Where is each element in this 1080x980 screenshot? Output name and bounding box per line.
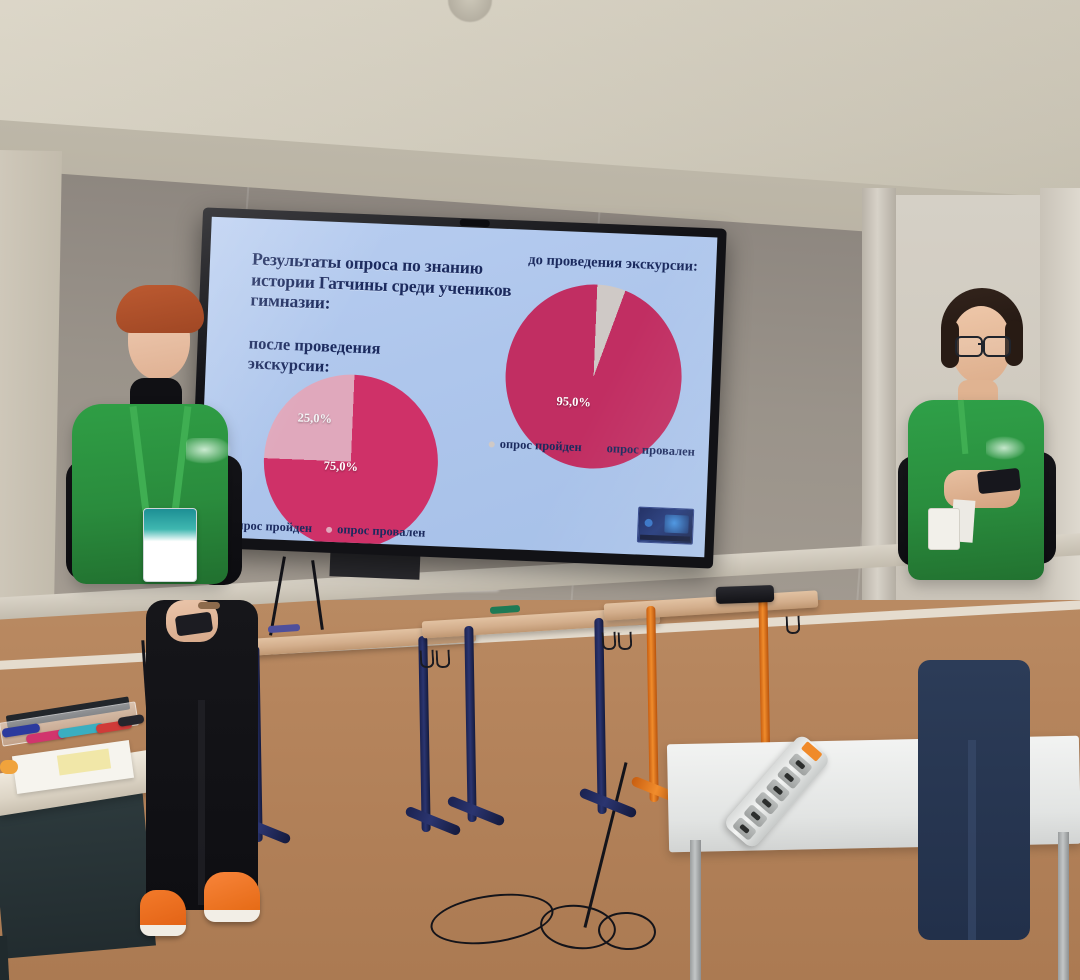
legend-label-passed: опрос пройден (499, 437, 582, 455)
legend-item-passed: опрос пройден (488, 436, 582, 455)
tshirt-logo-icon (186, 438, 232, 464)
tv-screen: Результаты опроса по знанию истории Гатч… (199, 217, 718, 557)
presentation-slide: Результаты опроса по знанию истории Гатч… (199, 217, 718, 557)
table-leg (1058, 832, 1069, 980)
pie-label-passed-before: 95,0% (556, 394, 591, 410)
desk-hook (786, 616, 801, 635)
name-badge (143, 508, 197, 582)
bracelet (198, 602, 220, 609)
desk-hook (602, 632, 617, 651)
wall-tv: Результаты опроса по знанию истории Гатч… (189, 207, 727, 568)
bluetooth-speaker (716, 585, 775, 604)
glasses-lens-right (983, 336, 1011, 357)
tshirt-logo-icon (986, 436, 1026, 460)
jeans-seam (968, 740, 976, 940)
desk-hook (420, 650, 435, 669)
desk-item (0, 760, 18, 774)
tv-camera-icon (459, 219, 489, 227)
name-badge (928, 508, 960, 550)
pie-label-failed-after: 25,0% (297, 410, 332, 426)
slide-subtitle-right: до проведения экскурсии: (528, 252, 717, 278)
sneaker-left (140, 890, 186, 936)
legend-dot-failed (326, 526, 332, 532)
glasses-bridge (978, 343, 985, 345)
desk-hook (618, 632, 633, 651)
glasses-lens-left (955, 336, 983, 357)
phone (977, 468, 1021, 494)
legend-dot-failed (596, 445, 602, 451)
desk-hook (436, 650, 451, 669)
sneaker-right (204, 872, 260, 922)
presentation-photo: Результаты опроса по знанию истории Гатч… (0, 0, 1080, 980)
hair-top (116, 285, 204, 333)
slide-logo-icon (637, 506, 694, 544)
slide-title: Результаты опроса по знанию истории Гатч… (250, 248, 532, 321)
pie-label-passed-after: 75,0% (323, 459, 358, 475)
table-leg (690, 840, 701, 980)
legend-label-passed: опрос пройден (230, 518, 313, 536)
legend-dot-passed (489, 441, 495, 447)
trouser-seam (198, 700, 205, 905)
